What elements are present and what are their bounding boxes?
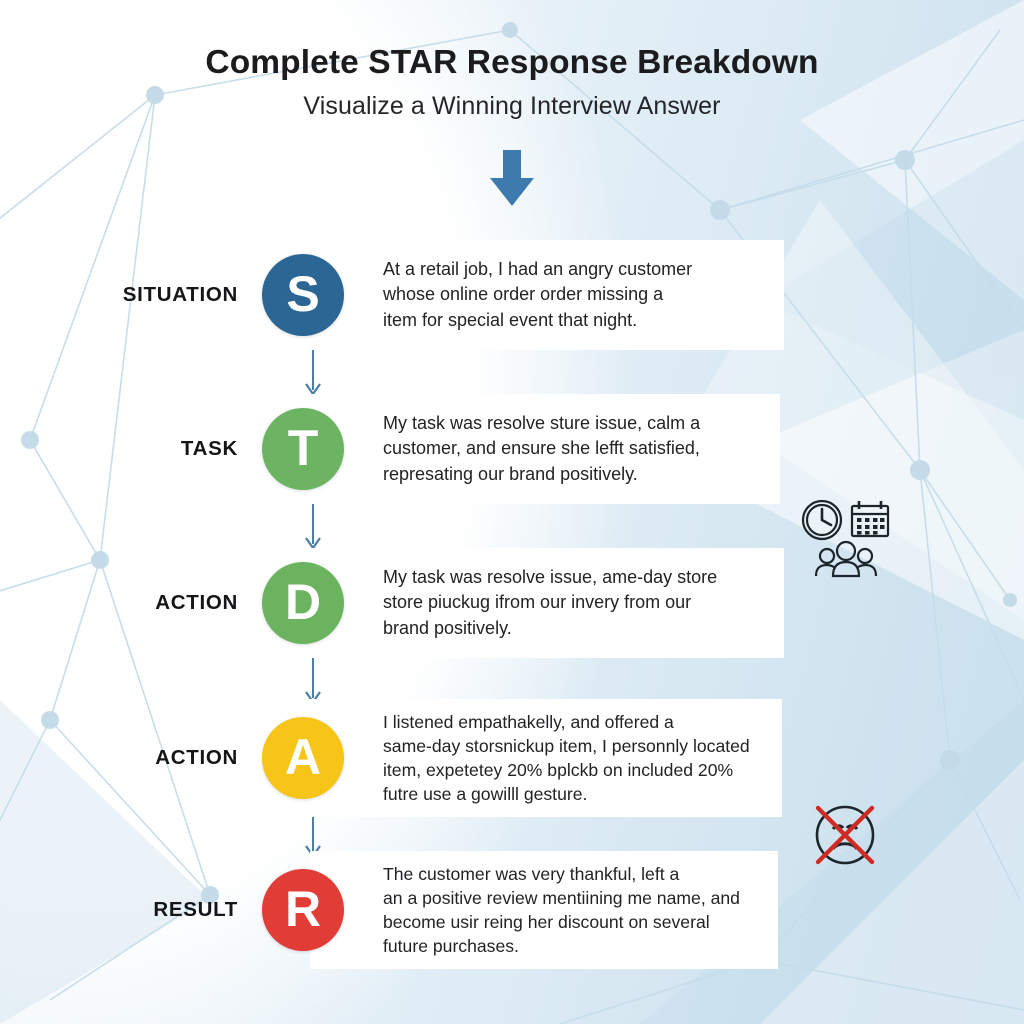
step-panel-situation: At a retail job, I had an angry customer… [310,240,784,350]
step-text-action-1: My task was resolve issue, ame-day store… [310,565,731,641]
step-text-line: future purchases. [383,934,740,958]
step-text-line: same-day storsnickup item, I personnly l… [383,734,750,758]
cross-out-mark [818,808,872,862]
step-icons-situation [800,498,892,580]
step-text-line: represating our brand positively. [383,462,700,487]
step-badge-situation: S [262,254,344,336]
step-panel-task: My task was resolve sture issue, calm a … [310,394,780,504]
step-text-line: At a retail job, I had an angry customer [383,257,692,282]
calendar-dots [857,518,885,535]
step-letter-task: T [288,423,319,473]
steps-list: SITUATION S At a retail job, I had an an… [0,0,1024,1024]
step-text-line: whose online order order missing a [383,282,692,307]
step-text-line: customer, and ensure she lefft satisfied… [383,436,700,461]
step-badge-result: R [262,869,344,951]
step-panel-result: The customer was very thankful, left a a… [310,851,778,969]
step-label-action-2: ACTION [28,746,238,770]
step-text-line: item, expetetey 20% bplckb on included 2… [383,758,750,782]
step-text-line: futre use a gowilll gesture. [383,782,750,806]
step-letter-situation: S [286,269,319,319]
step-text-situation: At a retail job, I had an angry customer… [310,257,706,333]
step-letter-result: R [285,884,321,934]
step-panel-action-1: My task was resolve issue, ame-day store… [310,548,784,658]
step-row-task: TASK T My task was resolve sture issue, … [0,390,1024,508]
step-text-line: an a positive review mentiining me name,… [383,886,740,910]
step-text-line: become usir reing her discount on severa… [383,910,740,934]
step-badge-action-2: A [262,717,344,799]
step-text-line: I listened empathakelly, and offered a [383,710,750,734]
step-text-line: store piuckug ifrom our invery from our [383,590,717,615]
step-panel-action-2: I listened empathakelly, and offered a s… [310,699,782,817]
step-text-task: My task was resolve sture issue, calm a … [310,411,714,487]
step-text-line: brand positively. [383,616,717,641]
step-text-action-2: I listened empathakelly, and offered a s… [310,710,764,806]
step-text-line: My task was resolve issue, ame-day store [383,565,717,590]
step-row-situation: SITUATION S At a retail job, I had an an… [0,236,1024,354]
step-text-result: The customer was very thankful, left a a… [310,862,754,958]
clock-icon [803,501,841,539]
step-text-line: My task was resolve sture issue, calm a [383,411,700,436]
step-label-action-1: ACTION [28,591,238,615]
step-text-line: item for special event that night. [383,308,692,333]
step-letter-action-1: D [285,577,321,627]
step-badge-task: T [262,408,344,490]
star-response-infographic: Complete STAR Response Breakdown Visuali… [0,0,1024,1024]
step-label-task: TASK [28,437,238,461]
step-label-result: RESULT [28,898,238,922]
step-badge-action-1: D [262,562,344,644]
no-angry-face-icon [808,798,882,872]
step-text-line: The customer was very thankful, left a [383,862,740,886]
step-letter-action-2: A [285,732,321,782]
people-group-icon [816,542,876,576]
step-label-situation: SITUATION [28,283,238,307]
